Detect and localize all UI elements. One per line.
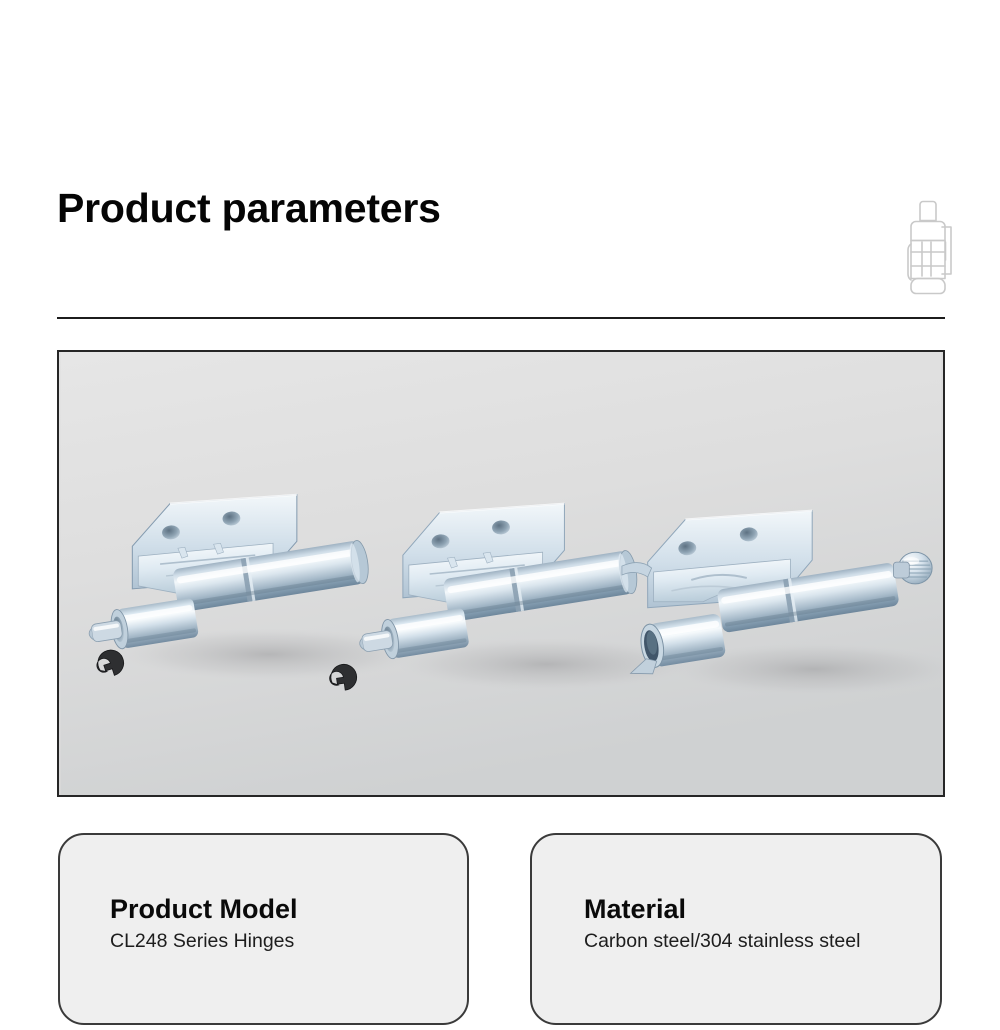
spec-card-material: Material Carbon steel/304 stainless stee… (530, 833, 942, 1025)
product-parameters-page: Product parameters (0, 0, 1000, 1030)
spec-title: Product Model (110, 894, 453, 926)
page-title: Product parameters (57, 186, 441, 231)
title-divider (57, 317, 945, 319)
spec-card-product-model: Product Model CL248 Series Hinges (58, 833, 469, 1025)
spec-value: CL248 Series Hinges (110, 929, 453, 953)
spec-value: Carbon steel/304 stainless steel (584, 929, 926, 953)
product-photo (57, 350, 945, 797)
spec-title: Material (584, 894, 926, 926)
product-photo-image (59, 352, 943, 795)
hinge-damper-icon (898, 196, 960, 300)
